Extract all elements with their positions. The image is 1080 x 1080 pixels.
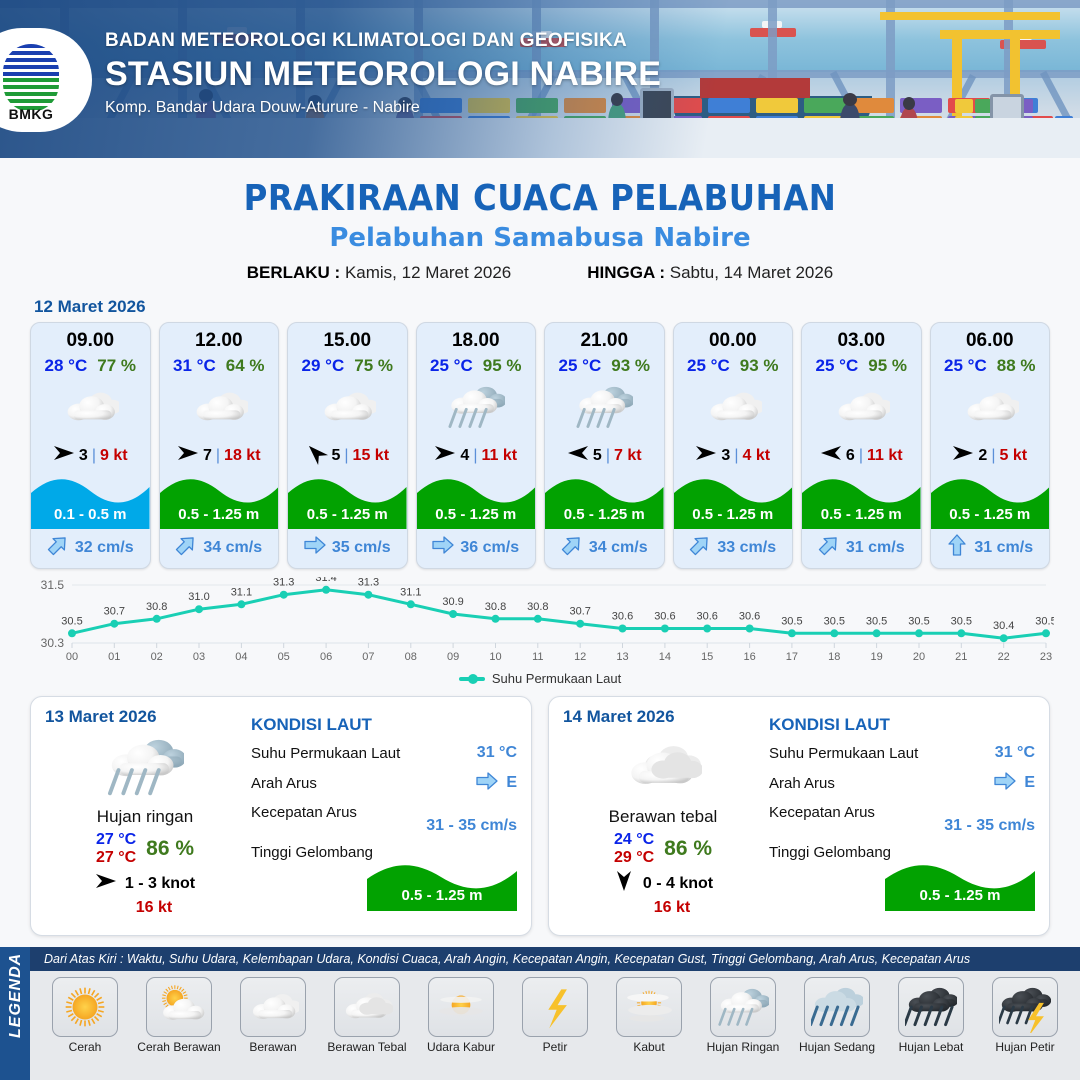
card-current-speed: 31 cm/s — [974, 539, 1033, 557]
svg-text:19: 19 — [870, 651, 882, 663]
card-time: 18.00 — [417, 323, 536, 352]
card-temp-humidity: 25 °C 95 % — [417, 352, 536, 376]
card-current: 31 cm/s — [802, 529, 921, 568]
station-name: STASIUN METEOROLOGI NABIRE — [105, 55, 661, 94]
card-wave-height: 0.5 - 1.25 m — [417, 506, 536, 523]
card-wave: 0.5 - 1.25 m — [802, 471, 921, 529]
card-time: 06.00 — [931, 323, 1050, 352]
legend-item: Cerah — [42, 977, 128, 1054]
svg-text:30.5: 30.5 — [1035, 615, 1054, 627]
card-wave: 0.5 - 1.25 m — [288, 471, 407, 529]
card-temperature: 25 °C — [944, 356, 987, 376]
svg-text:10: 10 — [489, 651, 501, 663]
current-direction-arrow-icon — [476, 771, 498, 795]
svg-text:23: 23 — [1040, 651, 1052, 663]
legend-item-label: Cerah — [42, 1040, 128, 1054]
legend-item: Hujan Petir — [982, 977, 1068, 1054]
panel-current-dir-value-group: E — [994, 771, 1035, 795]
svg-text:20: 20 — [913, 651, 925, 663]
card-temperature: 25 °C — [559, 356, 602, 376]
card-wave-height: 0.5 - 1.25 m — [160, 506, 279, 523]
legend-side-label: LEGENDA — [7, 954, 25, 1038]
valid-until-value: Sabtu, 14 Maret 2026 — [670, 263, 834, 282]
card-temperature: 31 °C — [173, 356, 216, 376]
card-current: 32 cm/s — [31, 529, 150, 568]
card-wind-speed: 4 — [460, 447, 469, 465]
legend-item-label: Hujan Lebat — [888, 1040, 974, 1054]
weather-petir-icon — [522, 977, 588, 1037]
forecast-card[interactable]: 15.00 29 °C 75 % — [287, 322, 408, 569]
panel-sst-value: 31 °C — [995, 744, 1035, 762]
current-direction-arrow-icon — [432, 535, 454, 560]
card-humidity: 93 % — [611, 356, 650, 376]
legend-item: Berawan Tebal — [324, 977, 410, 1054]
panel-temps: 27 °C 27 °C 86 % — [45, 831, 245, 866]
legend-item-label: Berawan — [230, 1040, 316, 1054]
panel-date: 13 Maret 2026 — [45, 707, 245, 727]
current-direction-arrow-icon — [994, 771, 1016, 795]
card-gust: 4 kt — [742, 447, 770, 465]
svg-text:03: 03 — [193, 651, 205, 663]
weather-hujan-petir-icon — [992, 977, 1058, 1037]
svg-text:07: 07 — [362, 651, 374, 663]
weather-berawan-tebal-icon — [563, 729, 763, 805]
svg-text:30.4: 30.4 — [993, 620, 1014, 632]
legend-note: Dari Atas Kiri : Waktu, Suhu Udara, Kele… — [30, 947, 1080, 971]
panel-current-speed-label: Kecepatan Arus — [769, 804, 875, 821]
panel-sea-title: KONDISI LAUT — [251, 715, 517, 735]
sst-line-chart: 31.5 30.30001020304050607080910111213141… — [26, 577, 1054, 667]
panel-gust: 16 kt — [563, 899, 763, 917]
card-gust: 9 kt — [100, 447, 128, 465]
card-current-speed: 34 cm/s — [589, 539, 648, 557]
logo-sky-stripes — [3, 44, 59, 78]
svg-text:21: 21 — [955, 651, 967, 663]
card-wind: 3 | 4 kt — [674, 438, 793, 471]
wind-direction-arrow-icon — [305, 444, 327, 467]
card-wind-speed: 6 — [846, 447, 855, 465]
svg-text:30.3: 30.3 — [41, 636, 65, 650]
panel-current-dir-value-group: E — [476, 771, 517, 795]
card-current: 35 cm/s — [288, 529, 407, 568]
svg-text:31.1: 31.1 — [400, 586, 421, 598]
legend-item-label: Cerah Berawan — [136, 1040, 222, 1054]
svg-text:05: 05 — [278, 651, 290, 663]
page-subtitle: Pelabuhan Samabusa Nabire — [0, 223, 1080, 253]
panel-temp-max: 27 °C — [96, 849, 136, 867]
svg-text:30.6: 30.6 — [696, 611, 717, 623]
panel-condition: Hujan ringan — [45, 807, 245, 827]
weather-hujan-ringan-icon — [417, 376, 536, 438]
svg-text:30.5: 30.5 — [61, 615, 82, 627]
current-direction-arrow-icon — [175, 535, 197, 560]
card-temp-humidity: 29 °C 75 % — [288, 352, 407, 376]
separator: | — [991, 447, 995, 465]
panel-wave-label: Tinggi Gelombang — [251, 844, 373, 861]
forecast-card[interactable]: 18.00 25 °C 95 % — [416, 322, 537, 569]
weather-berawan-icon — [288, 376, 407, 438]
panel-sst-label: Suhu Permukaan Laut — [769, 745, 918, 762]
svg-text:11: 11 — [532, 651, 543, 663]
card-wind-speed: 3 — [721, 447, 730, 465]
svg-text:31.3: 31.3 — [358, 577, 379, 589]
card-current: 34 cm/s — [160, 529, 279, 568]
card-temp-humidity: 28 °C 77 % — [31, 352, 150, 376]
legend-item-label: Kabut — [606, 1040, 692, 1054]
card-wave: 0.5 - 1.25 m — [674, 471, 793, 529]
svg-text:31.1: 31.1 — [231, 586, 252, 598]
card-wave: 0.5 - 1.25 m — [417, 471, 536, 529]
sst-chart-legend: Suhu Permukaan Laut — [0, 671, 1080, 686]
card-wave-height: 0.5 - 1.25 m — [545, 506, 664, 523]
wind-direction-arrow-icon — [952, 444, 974, 467]
valid-until-label: HINGGA : — [587, 263, 665, 282]
card-wind: 2 | 5 kt — [931, 438, 1050, 471]
valid-from-label: BERLAKU : — [247, 263, 341, 282]
wind-direction-arrow-icon — [695, 444, 717, 467]
card-current-speed: 33 cm/s — [717, 539, 776, 557]
weather-cerah-icon — [52, 977, 118, 1037]
sst-chart: 31.5 30.30001020304050607080910111213141… — [26, 577, 1054, 667]
separator: | — [473, 447, 477, 465]
panel-sst-row: Suhu Permukaan Laut 31 °C — [251, 744, 517, 762]
card-wind: 3 | 9 kt — [31, 438, 150, 471]
card-wave: 0.1 - 0.5 m — [31, 471, 150, 529]
panel-wind: 0 - 4 knot — [563, 872, 763, 895]
weather-hujan-sedang-icon — [804, 977, 870, 1037]
card-wave-height: 0.5 - 1.25 m — [674, 506, 793, 523]
panel-wave-value: 0.5 - 1.25 m — [367, 887, 517, 904]
card-wind-speed: 7 — [203, 447, 212, 465]
legend-item: Hujan Lebat — [888, 977, 974, 1054]
wind-direction-arrow-icon — [177, 444, 199, 467]
forecast-card[interactable]: 21.00 25 °C 93 % — [544, 322, 665, 569]
card-temperature: 29 °C — [302, 356, 345, 376]
svg-text:30.6: 30.6 — [654, 611, 675, 623]
legend-item: Udara Kabur — [418, 977, 504, 1054]
card-wave-height: 0.5 - 1.25 m — [802, 506, 921, 523]
separator: | — [859, 447, 863, 465]
forecast-card[interactable]: 06.00 25 °C 88 % — [930, 322, 1051, 569]
card-humidity: 93 % — [740, 356, 779, 376]
panel-current-speed-label: Kecepatan Arus — [251, 804, 357, 821]
card-wind: 4 | 11 kt — [417, 438, 536, 471]
weather-hujan-ringan-icon — [710, 977, 776, 1037]
panel-current-speed-value: 31 - 35 cm/s — [944, 817, 1035, 835]
card-wave: 0.5 - 1.25 m — [545, 471, 664, 529]
panel-current-dir-value: E — [1024, 774, 1035, 792]
legend-item: Petir — [512, 977, 598, 1054]
wind-direction-arrow-icon — [95, 872, 117, 895]
station-address: Komp. Bandar Udara Douw-Aturure - Nabire — [105, 99, 661, 117]
panel-wind-knot: 1 - 3 knot — [125, 875, 195, 893]
panel-current-dir-label: Arah Arus — [769, 775, 835, 792]
card-current-speed: 36 cm/s — [460, 539, 519, 557]
card-temp-humidity: 31 °C 64 % — [160, 352, 279, 376]
panel-current-dir-row: Arah Arus E — [251, 771, 517, 795]
card-humidity: 77 % — [97, 356, 136, 376]
legend-item: Cerah Berawan — [136, 977, 222, 1054]
forecast-card[interactable]: 03.00 25 °C 95 % — [801, 322, 922, 569]
weather-hujan-ringan-icon — [545, 376, 664, 438]
svg-text:08: 08 — [405, 651, 417, 663]
separator: | — [92, 447, 96, 465]
svg-text:31.0: 31.0 — [188, 591, 209, 603]
panel-current-speed-value: 31 - 35 cm/s — [426, 817, 517, 835]
svg-text:30.7: 30.7 — [104, 606, 125, 618]
panel-wave-badge: 0.5 - 1.25 m — [367, 859, 517, 911]
weather-kabut-icon — [616, 977, 682, 1037]
wind-direction-arrow-icon — [820, 444, 842, 467]
card-humidity: 64 % — [226, 356, 265, 376]
card-temp-humidity: 25 °C 95 % — [802, 352, 921, 376]
weather-udara-kabur-icon — [428, 977, 494, 1037]
legend-item-label: Udara Kabur — [418, 1040, 504, 1054]
svg-text:30.9: 30.9 — [442, 596, 463, 608]
legend-side-bar: LEGENDA — [0, 947, 30, 1080]
card-time: 21.00 — [545, 323, 664, 352]
forecast-card[interactable]: 09.00 28 °C 77 % — [30, 322, 151, 569]
panel-wave-value: 0.5 - 1.25 m — [885, 887, 1035, 904]
panel-date: 14 Maret 2026 — [563, 707, 763, 727]
card-wind: 7 | 18 kt — [160, 438, 279, 471]
separator: | — [606, 447, 610, 465]
svg-text:15: 15 — [701, 651, 713, 663]
card-temperature: 25 °C — [816, 356, 859, 376]
legend-item: Hujan Ringan — [700, 977, 786, 1054]
panel-sst-label: Suhu Permukaan Laut — [251, 745, 400, 762]
svg-text:09: 09 — [447, 651, 459, 663]
svg-text:30.5: 30.5 — [908, 615, 929, 627]
card-temperature: 25 °C — [687, 356, 730, 376]
svg-text:30.6: 30.6 — [612, 611, 633, 623]
legend-body: Dari Atas Kiri : Waktu, Suhu Udara, Kele… — [30, 947, 1080, 1080]
svg-text:30.5: 30.5 — [781, 615, 802, 627]
card-gust: 15 kt — [353, 447, 389, 465]
card-wave: 0.5 - 1.25 m — [160, 471, 279, 529]
svg-text:31.4: 31.4 — [315, 577, 336, 584]
panel-temp-max: 29 °C — [614, 849, 654, 867]
card-wave-height: 0.5 - 1.25 m — [288, 506, 407, 523]
current-direction-arrow-icon — [689, 535, 711, 560]
panel-temp-range: 24 °C 29 °C — [614, 831, 654, 866]
card-temp-humidity: 25 °C 93 % — [674, 352, 793, 376]
panel-sea-title: KONDISI LAUT — [769, 715, 1035, 735]
panel-humidity: 86 % — [146, 837, 194, 861]
svg-text:30.8: 30.8 — [527, 601, 548, 613]
current-direction-arrow-icon — [946, 535, 968, 560]
card-humidity: 88 % — [997, 356, 1036, 376]
panel-sst-value: 31 °C — [477, 744, 517, 762]
card-current: 31 cm/s — [931, 529, 1050, 568]
svg-text:30.5: 30.5 — [866, 615, 887, 627]
weather-berawan-icon — [802, 376, 921, 438]
card-wind: 5 | 15 kt — [288, 438, 407, 471]
legend-item-label: Hujan Sedang — [794, 1040, 880, 1054]
svg-text:14: 14 — [659, 651, 671, 663]
card-current-speed: 35 cm/s — [332, 539, 391, 557]
panel-right: KONDISI LAUT Suhu Permukaan Laut 31 °C A… — [245, 707, 517, 923]
agency-name: BADAN METEOROLOGI KLIMATOLOGI DAN GEOFIS… — [105, 30, 661, 52]
svg-text:30.6: 30.6 — [739, 611, 760, 623]
card-time: 03.00 — [802, 323, 921, 352]
weather-berawan-icon — [160, 376, 279, 438]
panel-current-dir-row: Arah Arus E — [769, 771, 1035, 795]
weather-hujan-lebat-icon — [898, 977, 964, 1037]
legend-item-row: Cerah Cerah Berawan — [30, 971, 1080, 1054]
card-humidity: 75 % — [354, 356, 393, 376]
legend-item-label: Hujan Ringan — [700, 1040, 786, 1054]
wind-direction-arrow-icon — [434, 444, 456, 467]
card-time: 09.00 — [31, 323, 150, 352]
sst-legend-label: Suhu Permukaan Laut — [492, 671, 621, 686]
page-title-block: PRAKIRAAN CUACA PELABUHAN Pelabuhan Sama… — [0, 178, 1080, 283]
card-current-speed: 31 cm/s — [846, 539, 905, 557]
card-humidity: 95 % — [868, 356, 907, 376]
header-banner: BMKG BADAN METEOROLOGI KLIMATOLOGI DAN G… — [0, 0, 1080, 158]
card-gust: 5 kt — [999, 447, 1027, 465]
legend-item-label: Berawan Tebal — [324, 1040, 410, 1054]
svg-text:00: 00 — [66, 651, 78, 663]
card-temp-humidity: 25 °C 93 % — [545, 352, 664, 376]
panel-wind-knot: 0 - 4 knot — [643, 875, 713, 893]
svg-text:16: 16 — [743, 651, 755, 663]
card-current-speed: 32 cm/s — [75, 539, 134, 557]
card-time: 15.00 — [288, 323, 407, 352]
panel-current-dir-label: Arah Arus — [251, 775, 317, 792]
forecast-day-label: 12 Maret 2026 — [34, 297, 1080, 317]
panel-wind: 1 - 3 knot — [45, 872, 245, 895]
card-wind-speed: 3 — [79, 447, 88, 465]
day-summary-panel[interactable]: 13 Maret 2026 Hujan — [30, 696, 532, 936]
weather-berawan-icon — [31, 376, 150, 438]
separator: | — [344, 447, 348, 465]
panel-gust: 16 kt — [45, 899, 245, 917]
forecast-card[interactable]: 12.00 31 °C 64 % — [159, 322, 280, 569]
svg-text:06: 06 — [320, 651, 332, 663]
legend-item-label: Hujan Petir — [982, 1040, 1068, 1054]
panel-temp-range: 27 °C 27 °C — [96, 831, 136, 866]
sst-legend-marker-icon — [459, 677, 485, 681]
legend-item: Berawan — [230, 977, 316, 1054]
svg-text:12: 12 — [574, 651, 586, 663]
wind-direction-arrow-icon — [53, 444, 75, 467]
card-gust: 18 kt — [224, 447, 260, 465]
svg-text:01: 01 — [108, 651, 120, 663]
legend-item-label: Petir — [512, 1040, 598, 1054]
valid-until: HINGGA : Sabtu, 14 Maret 2026 — [587, 263, 833, 283]
svg-text:30.5: 30.5 — [951, 615, 972, 627]
panel-temp-min: 27 °C — [96, 831, 136, 849]
card-current-speed: 34 cm/s — [203, 539, 262, 557]
svg-text:22: 22 — [998, 651, 1010, 663]
separator: | — [216, 447, 220, 465]
page-title: PRAKIRAAN CUACA PELABUHAN — [0, 178, 1080, 219]
card-current: 33 cm/s — [674, 529, 793, 568]
valid-from: BERLAKU : Kamis, 12 Maret 2026 — [247, 263, 512, 283]
legend-footer: LEGENDA Dari Atas Kiri : Waktu, Suhu Uda… — [0, 947, 1080, 1080]
panel-humidity: 86 % — [664, 837, 712, 861]
current-direction-arrow-icon — [561, 535, 583, 560]
svg-text:02: 02 — [151, 651, 163, 663]
wind-direction-arrow-icon — [613, 872, 635, 895]
panel-temp-min: 24 °C — [614, 831, 654, 849]
current-direction-arrow-icon — [304, 535, 326, 560]
svg-text:30.7: 30.7 — [569, 606, 590, 618]
card-wind-speed: 5 — [593, 447, 602, 465]
card-wind: 6 | 11 kt — [802, 438, 921, 471]
card-wave: 0.5 - 1.25 m — [931, 471, 1050, 529]
weather-berawan-icon — [931, 376, 1050, 438]
panel-temps: 24 °C 29 °C 86 % — [563, 831, 763, 866]
svg-text:13: 13 — [616, 651, 628, 663]
card-temperature: 25 °C — [430, 356, 473, 376]
current-direction-arrow-icon — [818, 535, 840, 560]
svg-text:17: 17 — [786, 651, 798, 663]
svg-text:31.3: 31.3 — [273, 577, 294, 589]
weather-cerah-berawan-icon — [146, 977, 212, 1037]
forecast-card[interactable]: 00.00 25 °C 93 % — [673, 322, 794, 569]
day-summary-panel[interactable]: 14 Maret 2026 — [548, 696, 1050, 936]
header-text-block: BADAN METEOROLOGI KLIMATOLOGI DAN GEOFIS… — [105, 30, 661, 117]
svg-text:30.8: 30.8 — [485, 601, 506, 613]
panel-right: KONDISI LAUT Suhu Permukaan Laut 31 °C A… — [763, 707, 1035, 923]
legend-item: Hujan Sedang — [794, 977, 880, 1054]
card-temp-humidity: 25 °C 88 % — [931, 352, 1050, 376]
logo-label: BMKG — [0, 106, 63, 122]
weather-hujan-ringan-icon — [45, 729, 245, 805]
svg-text:30.5: 30.5 — [824, 615, 845, 627]
svg-text:04: 04 — [235, 651, 247, 663]
card-wave-height: 0.1 - 0.5 m — [31, 506, 150, 523]
separator: | — [734, 447, 738, 465]
weather-berawan-icon — [240, 977, 306, 1037]
card-time: 00.00 — [674, 323, 793, 352]
panel-left: 14 Maret 2026 — [563, 707, 763, 923]
valid-from-value: Kamis, 12 Maret 2026 — [345, 263, 511, 282]
svg-text:18: 18 — [828, 651, 840, 663]
weather-berawan-icon — [674, 376, 793, 438]
card-gust: 11 kt — [867, 447, 903, 465]
card-wind: 5 | 7 kt — [545, 438, 664, 471]
daily-summary-panels: 13 Maret 2026 Hujan — [0, 696, 1080, 936]
card-wind-speed: 2 — [978, 447, 987, 465]
weather-berawan-tebal-icon — [334, 977, 400, 1037]
card-humidity: 95 % — [483, 356, 522, 376]
card-time: 12.00 — [160, 323, 279, 352]
card-wind-speed: 5 — [331, 447, 340, 465]
wind-direction-arrow-icon — [567, 444, 589, 467]
svg-text:31.5: 31.5 — [41, 578, 65, 592]
card-current: 36 cm/s — [417, 529, 536, 568]
card-gust: 11 kt — [481, 447, 517, 465]
card-gust: 7 kt — [614, 447, 642, 465]
card-current: 34 cm/s — [545, 529, 664, 568]
panel-left: 13 Maret 2026 Hujan — [45, 707, 245, 923]
card-temperature: 28 °C — [45, 356, 88, 376]
panel-current-dir-value: E — [506, 774, 517, 792]
panel-wave-badge: 0.5 - 1.25 m — [885, 859, 1035, 911]
current-direction-arrow-icon — [47, 535, 69, 560]
svg-text:30.8: 30.8 — [146, 601, 167, 613]
validity-row: BERLAKU : Kamis, 12 Maret 2026 HINGGA : … — [0, 263, 1080, 283]
card-wave-height: 0.5 - 1.25 m — [931, 506, 1050, 523]
forecast-card-row: 09.00 28 °C 77 % — [0, 322, 1080, 569]
legend-item: Kabut — [606, 977, 692, 1054]
panel-condition: Berawan tebal — [563, 807, 763, 827]
panel-wave-label: Tinggi Gelombang — [769, 844, 891, 861]
panel-sst-row: Suhu Permukaan Laut 31 °C — [769, 744, 1035, 762]
